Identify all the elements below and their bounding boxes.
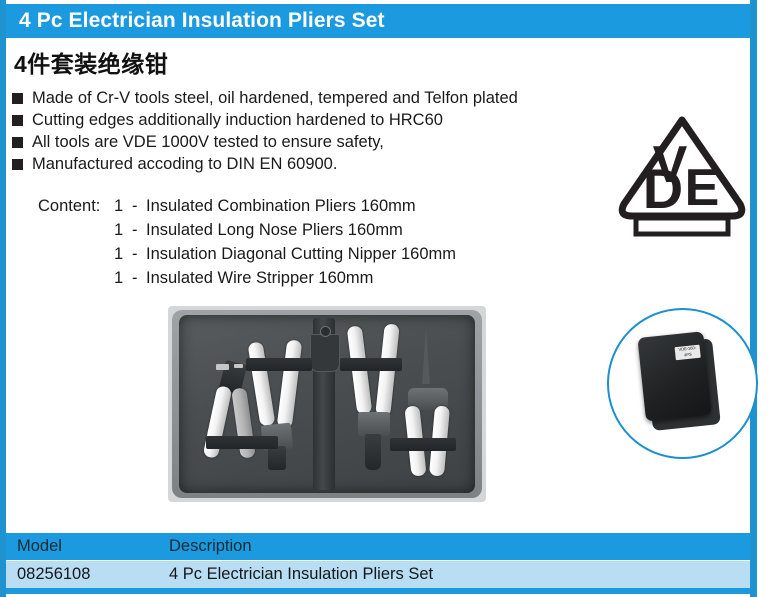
retaining-strap [340,358,402,371]
tool-jaw [365,434,381,470]
content-item: 1 - Insulation Diagonal Cutting Nipper 1… [114,242,456,266]
feature-item: Made of Cr-V tools steel, oil hardened, … [12,88,612,110]
left-edge-stripe [0,0,6,597]
inset-photo-closed-pouch: VDE-160-4PS [607,308,758,459]
bullet-square-icon [12,115,23,126]
feature-text: Made of Cr-V tools steel, oil hardened, … [32,88,518,109]
page-title: 4 Pc Electrician Insulation Pliers Set [6,9,385,33]
bullet-square-icon [12,93,23,104]
content-items: 1 - Insulated Combination Pliers 160mm 1… [114,194,456,290]
feature-list: Made of Cr-V tools steel, oil hardened, … [12,88,612,176]
content-name: Insulated Long Nose Pliers 160mm [146,218,403,242]
cell-model: 08256108 [6,565,169,584]
bullet-square-icon [12,137,23,148]
feature-text: Cutting edges additionally induction har… [32,110,443,131]
retaining-strap [206,436,278,449]
content-qty: 1 [114,194,132,218]
retaining-strap [390,438,456,451]
content-qty: 1 [114,266,132,290]
tool-small-part [216,364,229,370]
column-header-model: Model [6,537,169,556]
feature-text: Manufactured accoding to DIN EN 60900. [32,154,337,175]
closed-pouch-front: VDE-160-4PS [637,331,711,421]
content-dash: - [132,242,146,266]
title-bar: 4 Pc Electrician Insulation Pliers Set [6,4,750,38]
feature-item: Manufactured accoding to DIN EN 60900. [12,154,612,176]
content-name: Insulated Combination Pliers 160mm [146,194,416,218]
content-name: Insulation Diagonal Cutting Nipper 160mm [146,242,456,266]
content-item: 1 - Insulated Long Nose Pliers 160mm [114,218,456,242]
content-block: Content: 1 - Insulated Combination Plier… [38,194,456,290]
tool-long-nose-tip [422,326,430,384]
content-dash: - [132,194,146,218]
content-item: 1 - Insulated Wire Stripper 160mm [114,266,456,290]
content-qty: 1 [114,242,132,266]
cell-description: 4 Pc Electrician Insulation Pliers Set [169,565,750,584]
product-spec-sheet: 4 Pc Electrician Insulation Pliers Set 4… [0,0,777,597]
closed-pouch: VDE-160-4PS [637,330,720,429]
feature-item: Cutting edges additionally induction har… [12,110,612,132]
retaining-strap [246,358,312,371]
product-photo-open-pouch [168,306,486,502]
tool-jaw [358,412,390,436]
table-header-row: Model Description [6,533,750,560]
content-label: Content: [38,194,114,218]
vde-letter-e: E [685,159,720,217]
content-qty: 1 [114,218,132,242]
tool-small-part [234,364,243,368]
bullet-square-icon [12,159,23,170]
table-bottom-bar [6,588,750,594]
vde-base-bar [636,218,728,234]
table-row: 08256108 4 Pc Electrician Insulation Pli… [6,560,750,588]
zipper-pull-icon [320,326,331,337]
content-dash: - [132,266,146,290]
content-name: Insulated Wire Stripper 160mm [146,266,373,290]
tool-jaw [268,446,286,470]
pouch-brand-label: VDE-160-4PS [675,345,701,361]
column-header-description: Description [169,537,750,556]
pouch-pocket [310,334,340,372]
vde-certification-mark-icon: V D E [612,112,752,237]
content-item: 1 - Insulated Combination Pliers 160mm [114,194,456,218]
feature-text: All tools are VDE 1000V tested to ensure… [32,132,384,153]
right-edge-stripe [750,0,757,597]
content-dash: - [132,218,146,242]
spec-table: Model Description 08256108 4 Pc Electric… [6,533,750,588]
vde-letter-d: D [643,157,683,220]
subtitle-chinese: 4件套装绝缘钳 [14,45,168,79]
feature-item: All tools are VDE 1000V tested to ensure… [12,132,612,154]
